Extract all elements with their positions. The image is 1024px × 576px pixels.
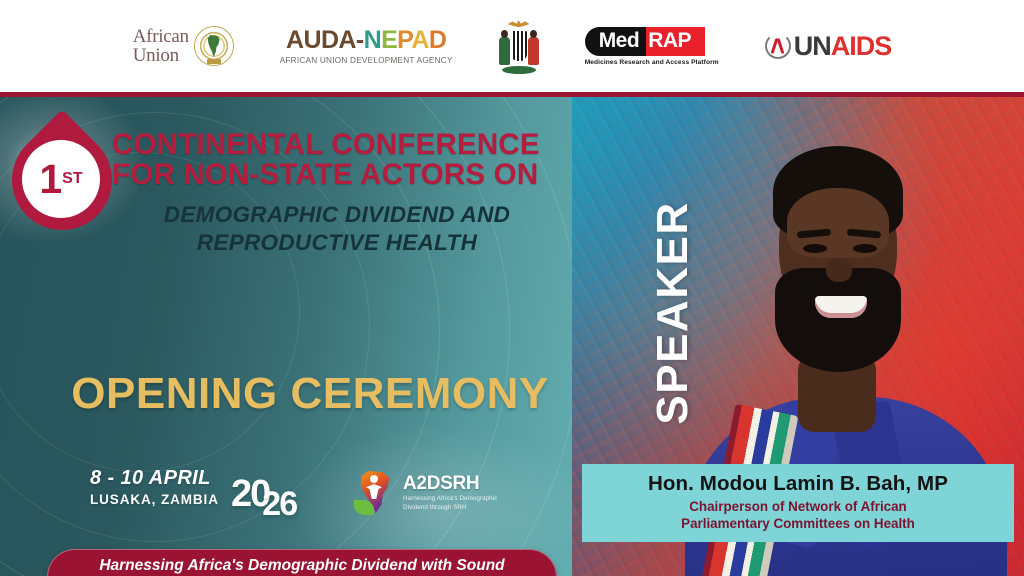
medrap-subtitle: Medicines Research and Access Platform: [585, 59, 719, 66]
speaker-title-line1: Chairperson of Network of African: [689, 499, 907, 514]
auda-nepad-subtitle: AFRICAN UNION DEVELOPMENT AGENCY: [280, 56, 453, 65]
logo-medrap: Med RAP Medicines Research and Access Pl…: [585, 27, 719, 66]
event-label: OPENING CEREMONY: [60, 369, 560, 419]
heading-dark-line1: DEMOGRAPHIC DIVIDEND AND: [112, 201, 562, 228]
unaids-un-text: UN: [794, 31, 831, 61]
conference-heading: CONTINENTAL CONFERENCE FOR NON-STATE ACT…: [112, 130, 562, 256]
theme-line1: Harnessing Africa's Demographic Dividend…: [77, 557, 526, 574]
badge-ordinal: ST: [62, 170, 82, 188]
zambia-coat-of-arms-icon: [499, 17, 539, 75]
heading-red-line2: FOR NON-STATE ACTORS ON: [112, 160, 562, 190]
auda-part-4: A: [411, 26, 428, 54]
africa-map-emblem-icon: [194, 26, 234, 66]
edition-badge: 1ST: [8, 128, 124, 232]
badge-number: 1: [39, 159, 61, 200]
medrap-rap-text: RAP: [646, 27, 705, 56]
speaker-title-line2: Parliamentary Committees on Health: [681, 516, 915, 531]
medrap-med-text: Med: [585, 27, 647, 56]
a2dsrh-tagline-line2: Dividend through SRH: [403, 504, 467, 511]
conference-banner: African Union AUDA-NEPAD AFRICAN UNION D…: [0, 0, 1024, 576]
speaker-pane: SPEAKER Hon. Modou Lamin B. Bah, MP Chai…: [572, 92, 1024, 576]
unaids-aids-text: AIDS: [831, 31, 892, 61]
logo-zambia-coat-of-arms: [499, 17, 539, 75]
logo-auda-nepad: AUDA-NEPAD AFRICAN UNION DEVELOPMENT AGE…: [280, 28, 453, 65]
a2dsrh-tagline-line1: Harnessing Africa's Demographic: [403, 495, 497, 502]
event-location: LUSAKA, ZAMBIA: [90, 492, 219, 507]
date-location-block: 8 - 10 APRIL LUSAKA, ZAMBIA: [90, 467, 219, 507]
heading-red-line1: CONTINENTAL CONFERENCE: [112, 130, 562, 160]
a2dsrh-mark-icon: [352, 470, 400, 516]
speaker-label: SPEAKER: [648, 153, 698, 473]
a2dsrh-logo: A2DSRH Harnessing Africa's Demographic D…: [352, 470, 497, 516]
event-year: 2026: [231, 475, 303, 513]
speaker-name: Hon. Modou Lamin B. Bah, MP: [648, 473, 948, 496]
year-second-half: 26: [262, 485, 296, 523]
auda-part-2: E: [381, 26, 397, 54]
heading-dark-line2: REPRODUCTIVE HEALTH: [112, 229, 562, 256]
auda-part-1: N: [364, 26, 381, 54]
auda-part-0: AUDA-: [286, 26, 364, 54]
conference-theme-pill: Harnessing Africa's Demographic Dividend…: [47, 549, 557, 576]
auda-part-5: D: [429, 26, 446, 54]
red-ribbon-icon: [765, 33, 791, 59]
speaker-nameplate: Hon. Modou Lamin B. Bah, MP Chairperson …: [582, 464, 1014, 542]
auda-part-3: P: [397, 26, 411, 54]
african-union-line1: African: [133, 27, 189, 46]
african-union-line2: Union: [133, 46, 189, 65]
partner-logo-bar: African Union AUDA-NEPAD AFRICAN UNION D…: [0, 0, 1024, 92]
main-panel: 1ST CONTINENTAL CONFERENCE FOR NON-STATE…: [0, 92, 1024, 576]
logo-unaids: UNAIDS: [765, 33, 892, 60]
top-accent-rule: [0, 92, 1024, 97]
a2dsrh-name: A2DSRH: [403, 474, 497, 493]
event-info-pane: 1ST CONTINENTAL CONFERENCE FOR NON-STATE…: [0, 92, 572, 576]
auda-nepad-wordmark: AUDA-NEPAD: [280, 28, 453, 53]
logo-african-union: African Union: [133, 26, 234, 66]
event-dates: 8 - 10 APRIL: [90, 467, 219, 490]
